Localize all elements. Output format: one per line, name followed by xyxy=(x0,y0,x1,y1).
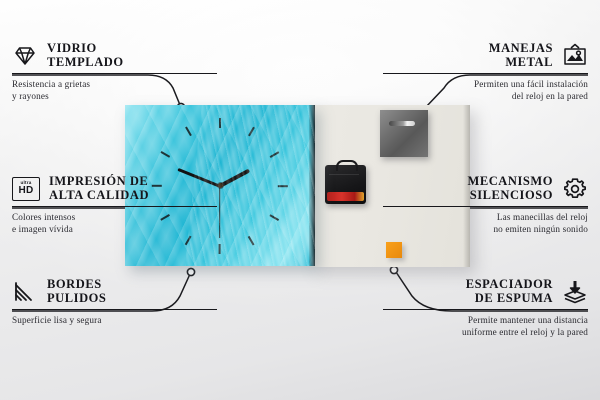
clock-tick xyxy=(219,244,221,254)
feature-mecanismo-silencioso: MECANISMO SILENCIOSO Las manecillas del … xyxy=(383,175,588,236)
ultra-hd-icon: ultra HD xyxy=(12,177,40,201)
feature-title: BORDES PULIDOS xyxy=(47,278,106,305)
feature-desc-line2: del reloj en la pared xyxy=(383,91,588,103)
polished-edges-icon xyxy=(12,279,38,305)
mechanism-detail xyxy=(329,174,359,175)
feature-desc-line1: Colores intensos xyxy=(12,212,217,224)
feature-desc-line1: Superficie lisa y segura xyxy=(12,315,217,327)
feature-divider xyxy=(383,73,588,74)
feature-bordes-pulidos: BORDES PULIDOS Superficie lisa y segura xyxy=(12,278,217,327)
clock-tick xyxy=(161,151,170,157)
feature-title: MECANISMO SILENCIOSO xyxy=(467,175,553,202)
foam-spacer-part xyxy=(386,242,402,258)
feature-divider xyxy=(12,309,217,310)
feature-desc-line2: uniforme entre el reloj y la pared xyxy=(383,327,588,339)
feature-impresion-alta-calidad: ultra HD IMPRESIÓN DE ALTA CALIDAD Color… xyxy=(12,175,217,236)
feature-vidrio-templado: VIDRIO TEMPLADO Resistencia a grietas y … xyxy=(12,42,217,103)
gear-icon xyxy=(562,176,588,202)
feature-desc-line1: Permite mantener una distancia xyxy=(383,315,588,327)
clock-tick xyxy=(248,126,254,135)
clock-tick xyxy=(278,185,288,187)
feature-title: IMPRESIÓN DE ALTA CALIDAD xyxy=(49,175,149,202)
feature-desc-line1: Permiten una fácil instalación xyxy=(383,79,588,91)
feature-espaciador-espuma: ESPACIADOR DE ESPUMA Permite mantener un… xyxy=(383,278,588,339)
foam-spacer-icon xyxy=(562,279,588,305)
feature-header: MANEJAS METAL xyxy=(383,42,588,69)
feature-title: VIDRIO TEMPLADO xyxy=(47,42,124,69)
feature-desc-line2: e imagen vívida xyxy=(12,224,217,236)
hanger-keyhole-slot xyxy=(389,121,415,126)
feature-title: MANEJAS METAL xyxy=(489,42,553,69)
feature-manejas-metal: MANEJAS METAL Permiten una fácil instala… xyxy=(383,42,588,103)
feature-desc-line2: y rayones xyxy=(12,91,217,103)
battery-compartment xyxy=(327,192,364,201)
feature-header: ESPACIADOR DE ESPUMA xyxy=(383,278,588,305)
infographic-canvas: VIDRIO TEMPLADO Resistencia a grietas y … xyxy=(0,0,600,400)
feature-header: MECANISMO SILENCIOSO xyxy=(383,175,588,202)
endpoint-espaciador xyxy=(390,266,397,273)
clock-tick xyxy=(248,235,254,244)
clock-tick xyxy=(270,151,279,157)
endpoint-bordes xyxy=(187,268,194,275)
clock-hour-hand xyxy=(219,168,250,187)
clock-tick xyxy=(185,126,191,135)
wall-hanging-icon xyxy=(562,43,588,69)
feature-divider xyxy=(383,206,588,207)
clock-center-hub xyxy=(218,183,223,188)
feature-desc-line1: Las manecillas del reloj xyxy=(383,212,588,224)
feature-divider xyxy=(12,73,217,74)
clock-tick xyxy=(219,118,221,128)
feature-title: ESPACIADOR DE ESPUMA xyxy=(466,278,553,305)
clock-tick xyxy=(185,235,191,244)
feature-divider xyxy=(12,206,217,207)
feature-divider xyxy=(383,309,588,310)
feature-desc-line1: Resistencia a grietas xyxy=(12,79,217,91)
clock-tick xyxy=(270,214,279,220)
metal-hanger-plate xyxy=(380,110,428,157)
mechanism-hanging-loop xyxy=(336,160,358,171)
feature-header: BORDES PULIDOS xyxy=(12,278,217,305)
feature-desc-line2: no emiten ningún sonido xyxy=(383,224,588,236)
ultra-hd-large-text: HD xyxy=(18,186,33,196)
clock-mechanism xyxy=(325,165,366,204)
feature-header: VIDRIO TEMPLADO xyxy=(12,42,217,69)
clock-second-hand xyxy=(219,186,220,238)
diamond-icon xyxy=(12,43,38,69)
glass-edge xyxy=(309,105,315,266)
feature-header: ultra HD IMPRESIÓN DE ALTA CALIDAD xyxy=(12,175,217,202)
